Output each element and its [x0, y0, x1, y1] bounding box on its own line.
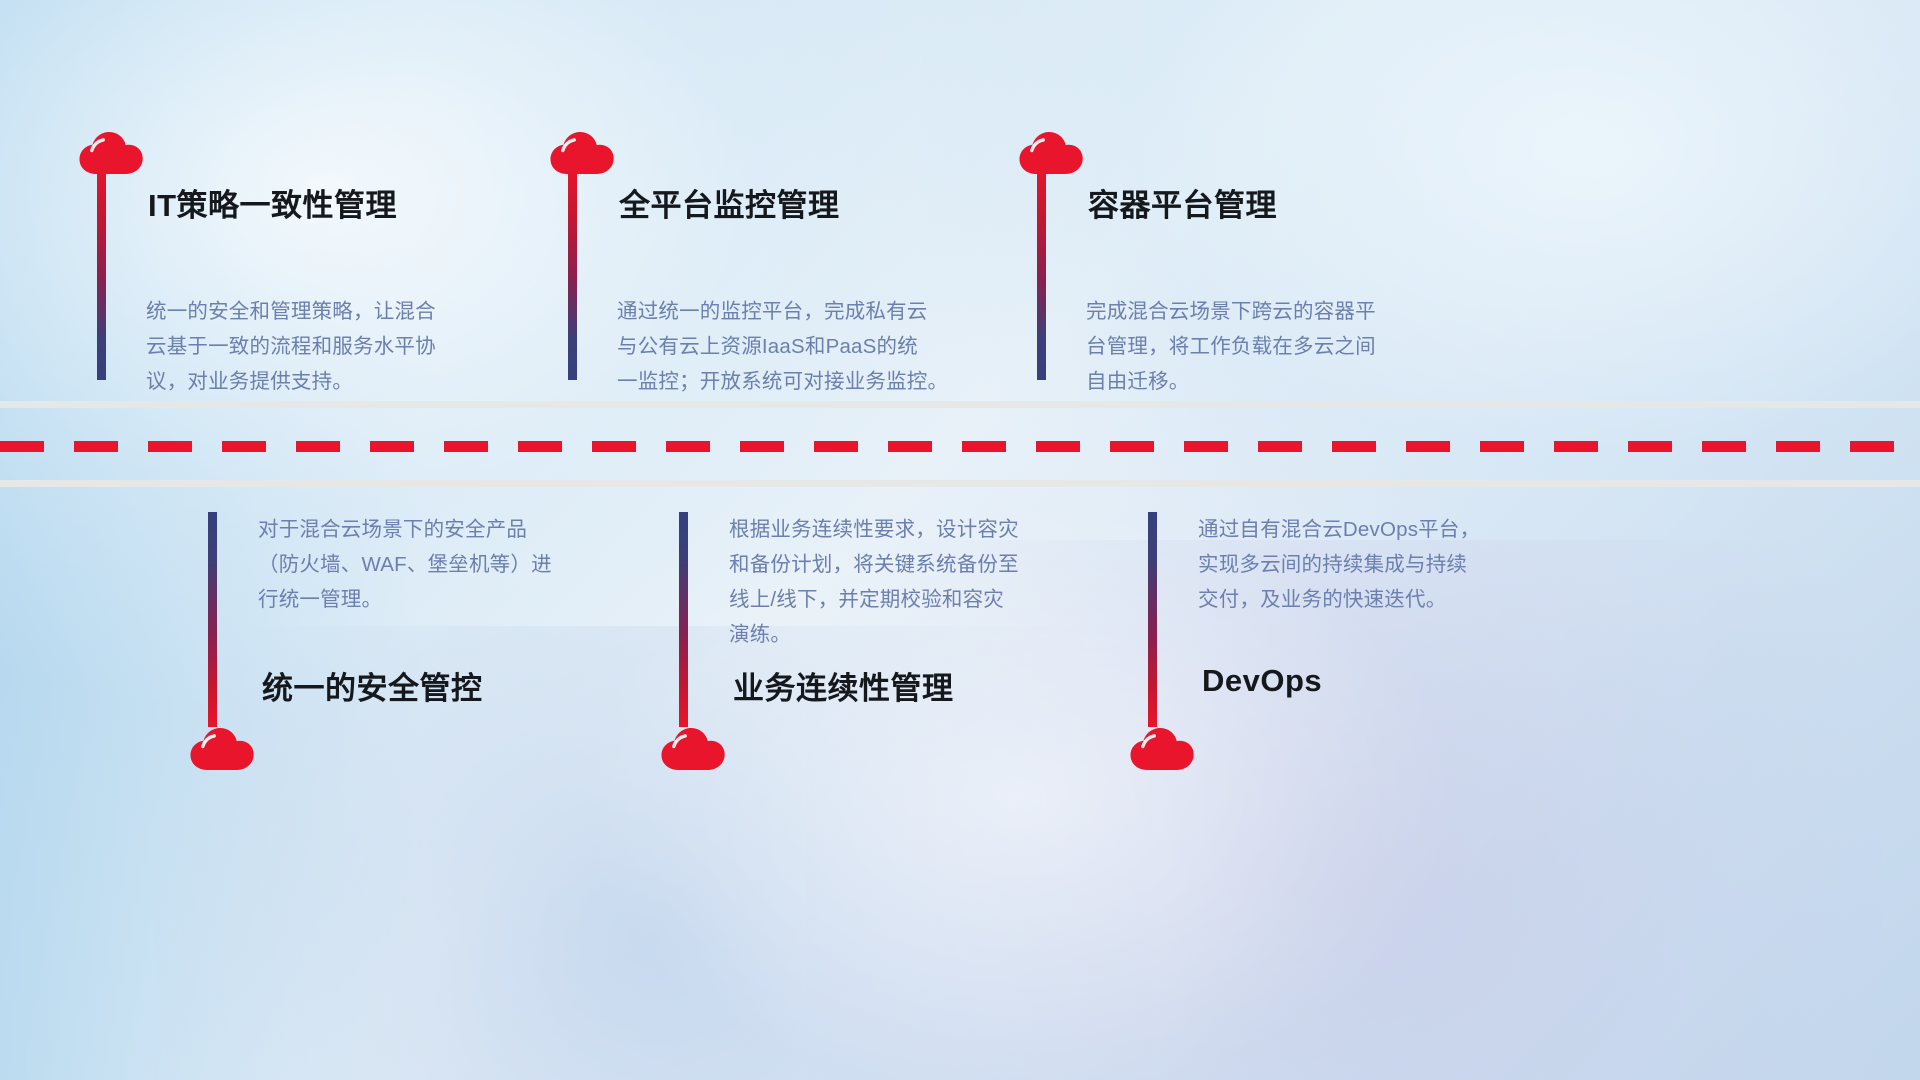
feature-body-line: 统一的安全和管理策略，让混合: [146, 294, 436, 329]
feature-body-line: （防火墙、WAF、堡垒机等）进: [258, 547, 552, 582]
feature-body-line: 对于混合云场景下的安全产品: [258, 512, 552, 547]
feature-body-line: 台管理，将工作负载在多云之间: [1086, 329, 1376, 364]
feature-body-line: 线上/线下，并定期校验和容灾: [729, 582, 1019, 617]
feature-body: 完成混合云场景下跨云的容器平 台管理，将工作负载在多云之间 自由迁移。: [1086, 294, 1376, 399]
cloud-icon: [1129, 726, 1195, 772]
gray-rule-bottom: [0, 480, 1920, 487]
feature-body-line: 与公有云上资源IaaS和PaaS的统: [617, 329, 948, 364]
feature-heading: 统一的安全管控: [262, 663, 483, 708]
feature-heading: 全平台监控管理: [619, 180, 840, 225]
feature-body-line: 议，对业务提供支持。: [146, 364, 436, 399]
feature-body: 根据业务连续性要求，设计容灾 和备份计划，将关键系统备份至 线上/线下，并定期校…: [729, 512, 1019, 652]
feature-body-line: 和备份计划，将关键系统备份至: [729, 547, 1019, 582]
feature-body: 通过自有混合云DevOps平台， 实现多云间的持续集成与持续 交付，及业务的快速…: [1198, 512, 1480, 617]
bottom-feature-row: 对于混合云场景下的安全产品 （防火墙、WAF、堡垒机等）进 行统一管理。 统一的…: [0, 487, 1920, 987]
feature-heading: 容器平台管理: [1088, 180, 1277, 225]
feature-body-line: 演练。: [729, 617, 1019, 652]
connector-stem: [568, 168, 577, 380]
connector-stem: [208, 512, 217, 727]
red-dashed-separator: [0, 441, 1920, 452]
feature-body: 对于混合云场景下的安全产品 （防火墙、WAF、堡垒机等）进 行统一管理。: [258, 512, 552, 617]
cloud-icon: [660, 726, 726, 772]
feature-body-line: 一监控；开放系统可对接业务监控。: [617, 364, 948, 399]
feature-body-line: 通过统一的监控平台，完成私有云: [617, 294, 948, 329]
feature-body: 通过统一的监控平台，完成私有云 与公有云上资源IaaS和PaaS的统 一监控；开…: [617, 294, 948, 399]
feature-body-line: 根据业务连续性要求，设计容灾: [729, 512, 1019, 547]
connector-stem: [1037, 168, 1046, 380]
gray-rule-top: [0, 401, 1920, 408]
cloud-icon: [1018, 130, 1084, 176]
connector-stem: [679, 512, 688, 727]
cloud-icon: [549, 130, 615, 176]
top-feature-row: IT策略一致性管理 统一的安全和管理策略，让混合 云基于一致的流程和服务水平协 …: [0, 0, 1920, 401]
feature-body-line: 自由迁移。: [1086, 364, 1376, 399]
feature-body-line: 行统一管理。: [258, 582, 552, 617]
feature-body-line: 通过自有混合云DevOps平台，: [1198, 512, 1480, 547]
feature-body-line: 云基于一致的流程和服务水平协: [146, 329, 436, 364]
feature-body-line: 完成混合云场景下跨云的容器平: [1086, 294, 1376, 329]
feature-heading: IT策略一致性管理: [148, 180, 397, 225]
connector-stem: [97, 168, 106, 380]
cloud-icon: [78, 130, 144, 176]
dashed-track: [0, 441, 1920, 452]
feature-body-line: 交付，及业务的快速迭代。: [1198, 582, 1480, 617]
cloud-icon: [189, 726, 255, 772]
feature-body: 统一的安全和管理策略，让混合 云基于一致的流程和服务水平协 议，对业务提供支持。: [146, 294, 436, 399]
connector-stem: [1148, 512, 1157, 727]
feature-heading: 业务连续性管理: [733, 663, 954, 708]
feature-body-line: 实现多云间的持续集成与持续: [1198, 547, 1480, 582]
feature-heading: DevOps: [1202, 663, 1322, 699]
